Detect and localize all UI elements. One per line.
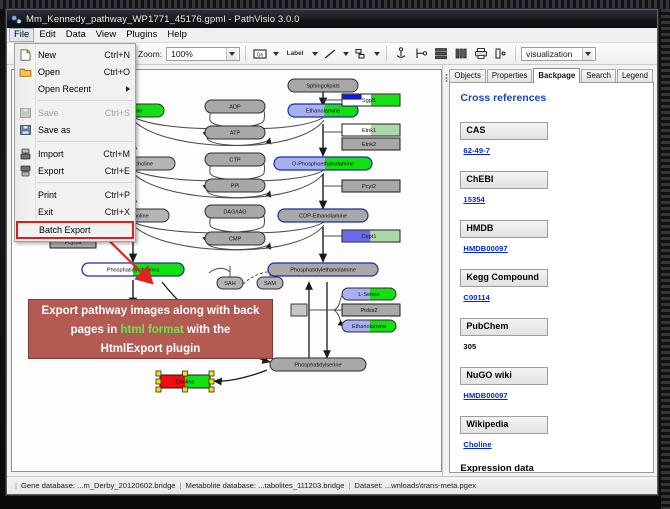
xref-header: CAS	[460, 122, 548, 140]
menu-item-accel: Ctrl+N	[104, 50, 130, 60]
xref-chebi: ChEBI 15354	[460, 169, 643, 207]
align-tool-button[interactable]	[432, 45, 450, 62]
status-metabolite-db-label: Metabolite database:	[186, 481, 257, 490]
export-icon	[19, 165, 32, 177]
anchor-tool-button[interactable]	[392, 45, 410, 62]
status-divider-1: |	[180, 481, 182, 490]
menu-plugins[interactable]: Plugins	[121, 28, 162, 42]
xref-link[interactable]: 62-49-7	[463, 146, 490, 155]
status-divider-2: |	[348, 481, 350, 490]
menu-item-save-as[interactable]: Save as	[15, 121, 135, 138]
xref-header: NuGO wiki	[460, 367, 548, 385]
xref-nugo-wiki: NuGO wiki HMDB00097	[460, 365, 643, 403]
visualization-value: visualization	[526, 49, 582, 59]
svg-text:DAG/IAG: DAG/IAG	[223, 210, 246, 216]
status-metabolite-db-value: ...tabolites_111203.bridge	[258, 481, 344, 490]
save-as-icon	[19, 124, 32, 136]
datanode-tool-button[interactable]: Gn	[251, 45, 269, 62]
label-tool-text: Label	[287, 50, 304, 57]
menu-item-print[interactable]: Print Ctrl+P	[15, 186, 135, 203]
xref-header: Wikipedia	[460, 416, 548, 434]
xref-wikipedia: Wikipedia Choline	[460, 414, 643, 452]
file-menu-dropdown[interactable]: New Ctrl+N Open Ctrl+O Open Recent	[14, 43, 136, 242]
menu-divider-2	[37, 141, 133, 142]
svg-text:Phosphatidylcholines: Phosphatidylcholines	[107, 268, 160, 274]
pathvisio-window: Mm_Kennedy_pathway_WP1771_45176.gpml - P…	[6, 9, 658, 495]
menu-item-accel: Ctrl+P	[105, 190, 130, 200]
status-gene-db-label: Gene database:	[21, 481, 75, 490]
datanode-dropdown-icon[interactable]	[271, 45, 280, 62]
desktop-background: Mm_Kennedy_pathway_WP1771_45176.gpml - P…	[0, 0, 670, 509]
toolbar-divider-3	[515, 46, 516, 61]
xref-link[interactable]: C00114	[463, 293, 489, 302]
interaction-dropdown-icon[interactable]	[372, 45, 381, 62]
svg-text:Pcyt2: Pcyt2	[362, 184, 376, 190]
menu-item-accel: Ctrl+X	[105, 207, 130, 217]
import-icon	[19, 148, 32, 160]
sidebar-tabstrip: Objects Properties Backpage Search Legen…	[449, 68, 654, 82]
menu-divider-1	[37, 100, 133, 101]
menu-data[interactable]: Data	[61, 28, 91, 42]
callout-line-1: Export pathway images along with back	[29, 302, 272, 321]
label-tool-button[interactable]: Label	[282, 45, 308, 62]
selected-choline-node: Choline	[156, 371, 214, 392]
line-dropdown-icon[interactable]	[341, 45, 350, 62]
svg-text:Gn: Gn	[257, 52, 264, 58]
status-bar: | Gene database: ...m_Derby_20120602.bri…	[7, 476, 657, 494]
submenu-arrow-icon	[126, 86, 130, 92]
svg-text:Sphingolipids: Sphingolipids	[306, 84, 339, 90]
xref-cas: CAS 62-49-7	[460, 120, 643, 158]
svg-text:ADP: ADP	[229, 105, 241, 111]
side-panel: Objects Properties Backpage Search Legen…	[443, 65, 657, 476]
callout-line-2a: pages in	[71, 324, 121, 336]
menu-item-label: Open Recent	[38, 84, 123, 94]
svg-text:CMP: CMP	[229, 237, 242, 243]
menu-item-label: Export	[38, 166, 105, 176]
menu-item-label: Open	[38, 67, 104, 77]
status-divider-0: |	[15, 481, 17, 490]
menu-item-exit[interactable]: Exit Ctrl+X	[15, 203, 135, 220]
print-tool-button[interactable]	[472, 45, 490, 62]
svg-text:Choline: Choline	[176, 380, 195, 386]
tab-objects[interactable]: Objects	[449, 69, 485, 82]
status-dataset-value: ...wnloads\trans-meta.pgex	[385, 481, 476, 490]
expression-data-heading: Expression data	[460, 463, 643, 473]
annotation-callout: Export pathway images along with back pa…	[28, 299, 273, 359]
svg-text:PPi: PPi	[231, 184, 240, 190]
menu-item-label: Print	[38, 190, 105, 200]
menu-item-label: New	[38, 50, 104, 60]
menu-edit[interactable]: Edit	[34, 28, 60, 42]
menu-item-label: Save	[38, 108, 105, 118]
tab-search[interactable]: Search	[581, 69, 616, 82]
xref-kegg-compound: Kegg Compound C00114	[460, 267, 643, 305]
menu-item-open-recent[interactable]: Open Recent	[15, 80, 135, 97]
menu-item-new[interactable]: New Ctrl+N	[15, 46, 135, 63]
xref-value: 305	[463, 342, 476, 351]
svg-text:Ethanolamine: Ethanolamine	[352, 324, 386, 330]
stack-tool-button[interactable]	[452, 45, 470, 62]
status-dataset-label: Dataset:	[354, 481, 382, 490]
svg-text:Phosphatidylserine: Phosphatidylserine	[294, 363, 341, 369]
svg-text:Ethanolamine: Ethanolamine	[306, 109, 340, 115]
visualization-combobox[interactable]: visualization	[521, 47, 596, 61]
xref-link[interactable]: HMDB00097	[463, 244, 507, 253]
zoom-value: 100%	[171, 49, 226, 59]
xref-link[interactable]: 15354	[463, 195, 484, 204]
menu-item-accel: Ctrl+E	[105, 166, 130, 176]
zoom-combobox[interactable]: 100%	[166, 47, 240, 61]
menu-bar: File Edit Data View Plugins Help	[7, 28, 657, 43]
status-gene-db-value: ...m_Derby_20120602.bridge	[77, 481, 175, 490]
xref-pubchem: PubChem 305	[460, 316, 643, 354]
xref-header: PubChem	[460, 318, 548, 336]
menu-item-accel: Ctrl+O	[104, 67, 130, 77]
xref-header: Kegg Compound	[460, 269, 548, 287]
chevron-down-icon-2[interactable]	[582, 48, 593, 60]
svg-text:Phosphatidylethanolamine: Phosphatidylethanolamine	[290, 268, 356, 274]
backpage-title: Cross references	[460, 92, 643, 104]
zoom-label: Zoom:	[138, 49, 162, 59]
callout-line-2-highlight: html format	[120, 324, 183, 336]
xref-header: HMDB	[460, 220, 548, 238]
svg-text:CDP-Ethanolamine: CDP-Ethanolamine	[299, 214, 347, 220]
xref-link[interactable]: Choline	[463, 440, 491, 449]
tab-legend[interactable]: Legend	[617, 69, 653, 82]
menu-item-label: Import	[38, 149, 103, 159]
pathvisio-icon	[11, 14, 22, 25]
new-file-icon	[19, 49, 32, 61]
svg-text:SAM: SAM	[264, 281, 276, 287]
folder-icon	[19, 66, 32, 78]
toolbar-divider-2	[386, 46, 387, 61]
window-titlebar: Mm_Kennedy_pathway_WP1771_45176.gpml - P…	[7, 10, 657, 28]
menu-item-save[interactable]: Save Ctrl+S	[15, 104, 135, 121]
xref-header: ChEBI	[460, 171, 548, 189]
menu-file[interactable]: File	[9, 28, 34, 42]
tab-backpage[interactable]: Backpage	[533, 68, 580, 83]
menu-item-accel: Ctrl+M	[103, 149, 130, 159]
menu-item-export[interactable]: Export Ctrl+E	[15, 162, 135, 179]
svg-text:Etnk1: Etnk1	[362, 128, 376, 134]
menu-item-import[interactable]: Import Ctrl+M	[15, 145, 135, 162]
menu-item-batch-export[interactable]: Batch Export	[16, 221, 134, 239]
menu-view[interactable]: View	[91, 28, 121, 42]
tab-properties[interactable]: Properties	[487, 69, 533, 82]
toolbar-divider	[245, 46, 246, 61]
menu-item-accel: Ctrl+S	[105, 108, 130, 118]
callout-line-2b: with the	[184, 324, 231, 336]
line-tool-button[interactable]	[321, 45, 339, 62]
menu-item-label: Batch Export	[39, 225, 127, 235]
svg-text:Cept1: Cept1	[362, 234, 377, 240]
svg-text:ATP: ATP	[230, 131, 241, 137]
callout-line-2: pages in html format with the	[29, 321, 272, 340]
window-title: Mm_Kennedy_pathway_WP1771_45176.gpml - P…	[26, 14, 300, 25]
legend-tool-button[interactable]	[492, 45, 510, 62]
xref-link[interactable]: HMDB00097	[463, 391, 507, 400]
interaction-tool-button[interactable]	[352, 45, 370, 62]
svg-text:CTP: CTP	[229, 158, 240, 164]
menu-item-open[interactable]: Open Ctrl+O	[15, 63, 135, 80]
menu-item-label: Exit	[38, 207, 105, 217]
save-icon	[19, 107, 32, 119]
svg-text:Etnk2: Etnk2	[362, 142, 376, 148]
callout-line-3: HtmlExport plugin	[29, 340, 272, 359]
chevron-down-icon[interactable]	[226, 48, 237, 60]
group-tool-button[interactable]	[412, 45, 430, 62]
svg-text:O-Phosphoethanolamine: O-Phosphoethanolamine	[292, 162, 354, 168]
xref-hmdb: HMDB HMDB00097	[460, 218, 643, 256]
menu-divider-3	[37, 182, 133, 183]
label-dropdown-icon[interactable]	[310, 45, 319, 62]
svg-text:Ptdss2: Ptdss2	[360, 308, 377, 314]
menu-item-label: Save as	[38, 125, 130, 135]
svg-text:Sgpl1: Sgpl1	[362, 98, 376, 104]
svg-text:SAH: SAH	[224, 281, 236, 287]
svg-text:L-Serine: L-Serine	[358, 292, 379, 298]
menu-help[interactable]: Help	[162, 28, 192, 42]
backpage-panel[interactable]: Cross references CAS 62-49-7 ChEBI 15354…	[449, 82, 654, 473]
